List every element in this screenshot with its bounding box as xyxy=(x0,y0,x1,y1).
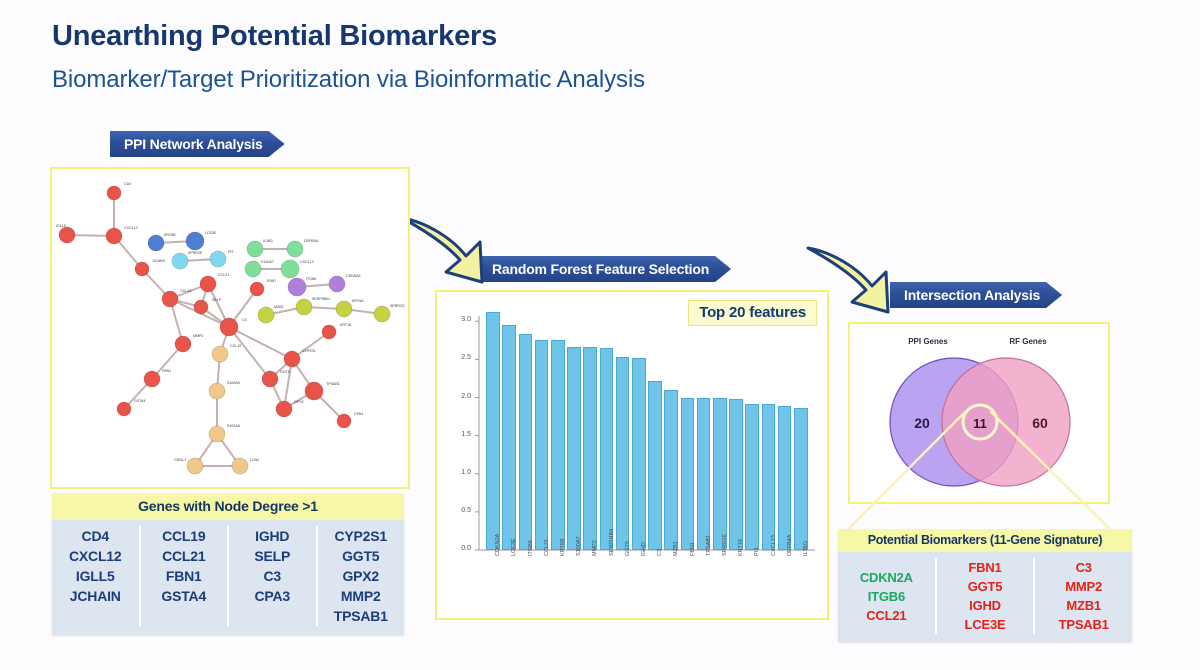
x-axis-tick-label: MMP2 xyxy=(592,540,598,556)
page-title: Unearthing Potential Biomarkers xyxy=(52,20,497,53)
gene-cell: IGLL5 xyxy=(52,566,139,586)
x-axis-tick-label: FBN1 xyxy=(690,542,696,556)
network-node-label: LCN2 xyxy=(250,458,259,462)
y-axis-tick-label: 2.0 xyxy=(449,393,471,400)
network-node xyxy=(186,232,204,250)
biomarker-gene-cell: TPSAB1 xyxy=(1035,615,1132,634)
network-node xyxy=(187,458,203,474)
gene-cell: C3 xyxy=(229,566,316,586)
gene-cell: GGT5 xyxy=(318,546,405,566)
venn-right-label: RF Genes xyxy=(1009,337,1047,346)
gene-cell: SELP xyxy=(229,546,316,566)
gene-cell: CCL19 xyxy=(141,526,228,546)
network-node-label: LCE3E xyxy=(205,231,217,235)
network-node xyxy=(337,414,351,428)
gene-cell: CXCL12 xyxy=(52,546,139,566)
network-edge xyxy=(229,327,292,359)
network-node xyxy=(209,383,225,399)
gene-table-column: CCL19CCL21FBN1GSTA4 xyxy=(141,526,230,626)
bar-chart-plot-area: 0.00.51.01.52.02.53.0CDKN2ALCE3EITGB6CCL… xyxy=(437,292,827,618)
network-node-label: KRT16 xyxy=(340,323,351,327)
bar xyxy=(535,340,549,550)
network-node-label: IL36G xyxy=(263,239,273,243)
venn-count-overlap: 11 xyxy=(973,416,987,431)
bar xyxy=(519,334,533,550)
bar xyxy=(713,398,727,551)
network-node-label: IGHD xyxy=(267,279,276,283)
network-node xyxy=(245,261,261,277)
x-axis-tick-label: IL36G xyxy=(803,541,809,556)
biomarker-gene-cell: MZB1 xyxy=(1035,596,1132,615)
x-axis-tick-label: KRT6B xyxy=(560,538,566,556)
biomarker-gene-cell: FBN1 xyxy=(937,558,1034,577)
x-axis-tick-label: C3 xyxy=(657,549,663,556)
network-node xyxy=(194,300,208,314)
network-node-label: JCHAIN xyxy=(152,259,165,263)
bar xyxy=(486,312,500,550)
x-axis-tick-label: S100A7 xyxy=(576,536,582,556)
network-node xyxy=(374,306,390,322)
network-node xyxy=(287,241,303,257)
network-node-label: CD4 xyxy=(124,182,131,186)
network-node xyxy=(200,276,216,292)
x-axis-tick-label: IGHD xyxy=(641,542,647,556)
network-node xyxy=(281,260,299,278)
network-node-label: SPRR2E xyxy=(188,251,203,255)
biomarker-column: FBN1GGT5IGHDLCE3E xyxy=(937,558,1036,634)
network-node-label: C3 xyxy=(242,318,247,322)
network-node-label: FBN1 xyxy=(162,369,171,373)
banner-ppi-network-analysis: PPI Network Analysis xyxy=(110,131,285,157)
x-axis-tick-label: SERPINB4 xyxy=(609,529,615,556)
network-node-label: IGLL5 xyxy=(56,224,66,228)
network-node-label: CDKN2A xyxy=(346,274,361,278)
page-subtitle: Biomarker/Target Prioritization via Bioi… xyxy=(52,66,645,94)
gene-table-column: CYP2S1GGT5GPX2MMP2TPSAB1 xyxy=(318,526,405,626)
biomarker-table-body: CDKN2AITGB6CCL21FBN1GGT5IGHDLCE3EC3MMP2M… xyxy=(838,552,1132,642)
network-node xyxy=(296,299,312,315)
bar xyxy=(664,390,678,550)
network-node xyxy=(258,307,274,323)
network-node xyxy=(336,301,352,317)
network-node-label: CPA3 xyxy=(354,412,363,416)
network-node-label: GSTA4 xyxy=(134,399,146,403)
network-node xyxy=(117,402,131,416)
network-node xyxy=(172,253,188,269)
network-node xyxy=(250,282,264,296)
x-axis-tick-label: PI3 xyxy=(754,548,760,556)
bar xyxy=(745,404,759,550)
network-node xyxy=(329,276,345,292)
gene-cell: CCL21 xyxy=(141,546,228,566)
x-axis-tick-label: GGT5 xyxy=(625,541,631,556)
biomarker-column: CDKN2AITGB6CCL21 xyxy=(838,558,937,634)
y-axis-tick-label: 1.0 xyxy=(449,469,471,476)
network-node xyxy=(212,346,228,362)
biomarker-gene-cell: LCE3E xyxy=(937,615,1034,634)
network-node xyxy=(59,227,75,243)
ppi-network-graph: CD4IGLL5CXCL12JCHAINCCL19CCL21SELPC3IGHD… xyxy=(52,169,408,487)
bar xyxy=(502,325,516,550)
network-node xyxy=(209,426,225,442)
x-axis-tick-label: KRT16 xyxy=(738,539,744,556)
network-node-label: ITGB6 xyxy=(306,277,316,281)
gene-node-degree-table: Genes with Node Degree >1 CD4CXCL12IGLL5… xyxy=(52,493,404,635)
network-node xyxy=(322,325,336,339)
y-axis-tick-label: 1.5 xyxy=(449,431,471,438)
network-node xyxy=(210,251,226,267)
network-node-label: SELP xyxy=(212,298,222,302)
x-axis-tick-label: CXCL13 xyxy=(771,535,777,556)
venn-circle-rf xyxy=(942,358,1070,486)
biomarker-gene-cell: ITGB6 xyxy=(838,587,935,606)
network-edge xyxy=(229,327,270,379)
gene-cell: FBN1 xyxy=(141,566,228,586)
biomarker-gene-cell: IGHD xyxy=(937,596,1034,615)
biomarker-gene-cell: C3 xyxy=(1035,558,1132,577)
gene-cell: CYP2S1 xyxy=(318,526,405,546)
network-node-label: GGT5 xyxy=(280,370,290,374)
biomarker-column: C3MMP2MZB1TPSAB1 xyxy=(1035,558,1132,634)
network-node xyxy=(247,241,263,257)
network-node-label: CXCL12 xyxy=(124,226,138,230)
gene-cell: GSTA4 xyxy=(141,586,228,606)
banner-intersection-analysis: Intersection Analysis xyxy=(890,282,1062,308)
gene-table-column: CD4CXCL12IGLL5JCHAIN xyxy=(52,526,141,626)
network-node xyxy=(284,351,300,367)
banner-random-forest-feature-selection: Random Forest Feature Selection xyxy=(478,256,731,282)
venn-diagram: PPI Genes RF Genes 20 60 11 xyxy=(850,324,1108,502)
network-node-label: SERPINB4 xyxy=(312,297,330,301)
network-node-label: MZB1 xyxy=(274,305,284,309)
network-node xyxy=(106,228,122,244)
gene-cell: CD4 xyxy=(52,526,139,546)
network-node-label: SPRR2G xyxy=(390,304,405,308)
network-node xyxy=(305,382,323,400)
gene-table-body: CD4CXCL12IGLL5JCHAINCCL19CCL21FBN1GSTA4I… xyxy=(52,520,404,635)
gene-cell: TPSAB1 xyxy=(318,606,405,626)
potential-biomarkers-table: Potential Biomarkers (11-Gene Signature)… xyxy=(838,529,1132,642)
network-node xyxy=(175,336,191,352)
gene-cell: JCHAIN xyxy=(52,586,139,606)
chart-top20-label: Top 20 features xyxy=(688,300,817,326)
bar xyxy=(551,340,565,550)
slide-canvas: Unearthing Potential Biomarkers Biomarke… xyxy=(0,0,1200,670)
x-axis-tick-label: CDKN2A xyxy=(495,534,501,556)
x-axis-tick-label: ITGB6 xyxy=(528,540,534,556)
network-node-label: KRT6B xyxy=(164,233,176,237)
random-forest-chart-panel: Top 20 features 0.00.51.01.52.02.53.0CDK… xyxy=(435,290,829,620)
gene-cell: IGHD xyxy=(229,526,316,546)
network-node-label: TPSAB1 xyxy=(326,382,340,386)
venn-left-label: PPI Genes xyxy=(908,337,948,346)
bar xyxy=(762,404,776,550)
network-node xyxy=(288,278,306,296)
bar xyxy=(583,347,597,550)
biomarker-gene-cell: MMP2 xyxy=(1035,577,1132,596)
bar xyxy=(648,381,662,550)
bar xyxy=(697,398,711,551)
venn-count-ppi-only: 20 xyxy=(914,415,930,431)
network-node-label: CYP2S1 xyxy=(302,349,316,353)
network-node xyxy=(262,371,278,387)
x-axis-tick-label: CCL21 xyxy=(544,539,550,556)
gene-cell: MMP2 xyxy=(318,586,405,606)
y-axis-tick-label: 2.5 xyxy=(449,354,471,361)
gene-cell: CPA3 xyxy=(229,586,316,606)
network-node-label: CCL19 xyxy=(180,289,191,293)
biomarker-gene-cell: CDKN2A xyxy=(838,568,935,587)
biomarker-gene-cell: GGT5 xyxy=(937,577,1034,596)
x-axis-tick-label: MZB1 xyxy=(673,541,679,556)
network-node-label: KRT6A xyxy=(352,299,364,303)
network-node xyxy=(144,371,160,387)
gene-cell: GPX2 xyxy=(318,566,405,586)
x-axis-tick-label: DEFB4A xyxy=(787,535,793,556)
venn-diagram-panel: PPI Genes RF Genes 20 60 11 xyxy=(848,322,1110,504)
flow-arrow-icon-1 xyxy=(396,208,500,290)
network-node xyxy=(148,235,164,251)
network-node-label: CHI3L1 xyxy=(174,458,186,462)
network-node xyxy=(162,291,178,307)
network-node-label: S100A9 xyxy=(227,381,240,385)
network-node-label: GPX2 xyxy=(294,400,304,404)
y-axis-tick-label: 3.0 xyxy=(449,316,471,323)
biomarker-gene-cell: CCL21 xyxy=(838,606,935,625)
network-node-label: MMP2 xyxy=(193,334,203,338)
gene-table-header: Genes with Node Degree >1 xyxy=(52,493,404,520)
network-node-label: PI3 xyxy=(228,250,233,254)
network-node-label: DEFB4A xyxy=(304,239,319,243)
bar xyxy=(794,408,808,550)
network-node-label: CXCL13 xyxy=(300,260,314,264)
x-axis-tick-label: LCE3E xyxy=(511,539,517,556)
venn-count-rf-only: 60 xyxy=(1032,415,1048,431)
y-axis-tick-label: 0.5 xyxy=(449,507,471,514)
network-node xyxy=(232,458,248,474)
network-node xyxy=(107,186,121,200)
bar xyxy=(632,358,646,550)
network-node-label: S100A7 xyxy=(261,260,274,264)
biomarker-table-header: Potential Biomarkers (11-Gene Signature) xyxy=(838,529,1132,552)
bar xyxy=(681,398,695,551)
network-node-label: S100A8 xyxy=(227,424,240,428)
bar xyxy=(729,399,743,550)
network-node-label: CCL19 xyxy=(230,344,241,348)
bar xyxy=(567,347,581,550)
ppi-network-panel: CD4IGLL5CXCL12JCHAINCCL19CCL21SELPC3IGHD… xyxy=(50,167,410,489)
bar xyxy=(616,357,630,550)
y-axis-tick-label: 0.0 xyxy=(449,545,471,552)
network-node xyxy=(276,401,292,417)
x-axis-tick-label: TPSAB1 xyxy=(706,535,712,556)
network-node xyxy=(220,318,238,336)
bar xyxy=(778,406,792,550)
network-node xyxy=(135,262,149,276)
x-axis-tick-label: SPRR2E xyxy=(722,534,728,556)
gene-table-column: IGHDSELPC3CPA3 xyxy=(229,526,318,626)
bar xyxy=(600,348,614,550)
network-node-label: CCL21 xyxy=(218,273,229,277)
